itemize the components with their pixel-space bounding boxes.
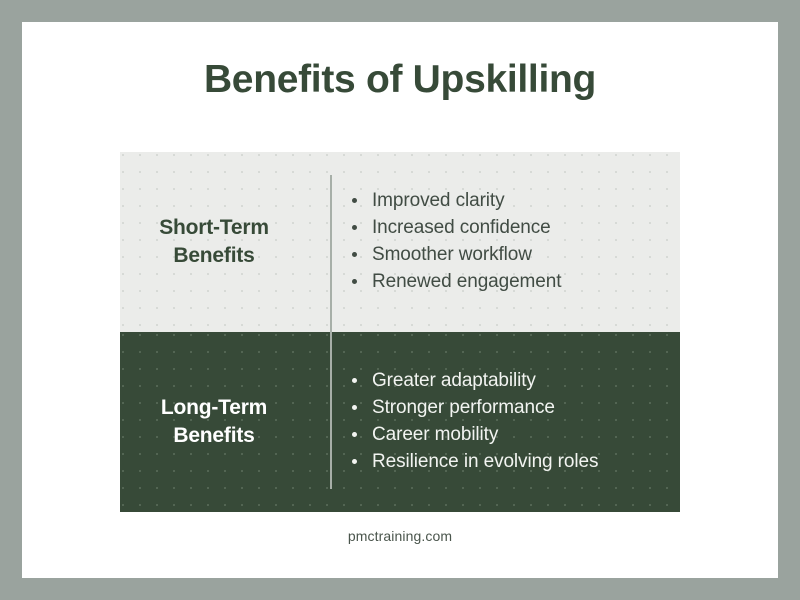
benefit-list-long-term: Greater adaptability Stronger performanc… — [350, 368, 598, 476]
list-item: Stronger performance — [350, 395, 598, 422]
list-item-label: Greater adaptability — [372, 370, 536, 391]
bullet-dot-icon — [352, 198, 357, 203]
list-item-label: Resilience in evolving roles — [372, 451, 598, 472]
table-row: Long-Term Benefits Greater adaptability … — [120, 332, 680, 512]
row-label-text: Short-Term Benefits — [159, 214, 269, 269]
list-item-label: Increased confidence — [372, 217, 551, 238]
footer-text: pmctraining.com — [22, 528, 778, 544]
slide-card: Benefits of Upskilling Short-Term Benefi… — [22, 22, 778, 578]
row-label-long-term: Long-Term Benefits — [120, 332, 308, 512]
list-item-label: Career mobility — [372, 424, 498, 445]
list-item-label: Renewed engagement — [372, 271, 561, 292]
bullet-dot-icon — [352, 279, 357, 284]
row-list-long-term: Greater adaptability Stronger performanc… — [308, 332, 680, 512]
list-item: Increased confidence — [350, 215, 561, 242]
list-item: Greater adaptability — [350, 368, 598, 395]
row-list-short-term: Improved clarity Increased confidence Sm… — [308, 152, 680, 332]
list-item: Resilience in evolving roles — [350, 449, 598, 476]
list-item: Improved clarity — [350, 188, 561, 215]
row-label-short-term: Short-Term Benefits — [120, 152, 308, 332]
row-label-line1: Short-Term — [159, 216, 269, 239]
benefit-list-short-term: Improved clarity Increased confidence Sm… — [350, 188, 561, 296]
bullet-dot-icon — [352, 378, 357, 383]
bullet-dot-icon — [352, 252, 357, 257]
table-row: Short-Term Benefits Improved clarity Inc… — [120, 152, 680, 332]
row-label-line1: Long-Term — [161, 396, 267, 419]
list-item: Renewed engagement — [350, 269, 561, 296]
row-label-line2: Benefits — [173, 244, 254, 267]
bullet-dot-icon — [352, 405, 357, 410]
list-item-label: Stronger performance — [372, 397, 555, 418]
slide-frame: Benefits of Upskilling Short-Term Benefi… — [0, 0, 800, 600]
page-title: Benefits of Upskilling — [22, 58, 778, 102]
bullet-dot-icon — [352, 459, 357, 464]
list-item-label: Improved clarity — [372, 190, 505, 211]
bullet-dot-icon — [352, 432, 357, 437]
row-label-line2: Benefits — [173, 424, 254, 447]
list-item: Career mobility — [350, 422, 598, 449]
row-label-text: Long-Term Benefits — [161, 394, 267, 449]
list-item-label: Smoother workflow — [372, 244, 532, 265]
bullet-dot-icon — [352, 225, 357, 230]
list-item: Smoother workflow — [350, 242, 561, 269]
column-divider — [330, 175, 332, 489]
benefits-table: Short-Term Benefits Improved clarity Inc… — [120, 152, 680, 512]
